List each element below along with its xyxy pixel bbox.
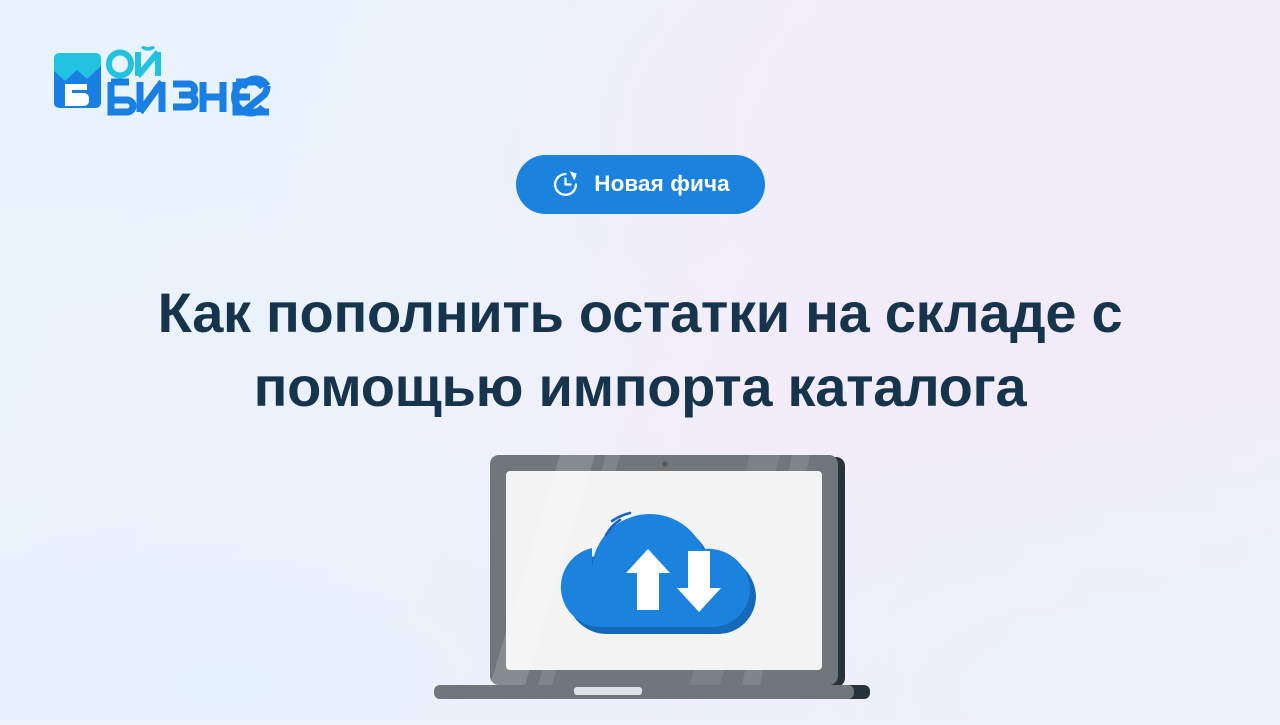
new-feature-badge[interactable]: Новая фича xyxy=(516,155,765,214)
laptop-camera-icon xyxy=(662,461,667,466)
clock-rotate-icon xyxy=(551,170,580,199)
page-title: Как пополнить остатки на складе с помощь… xyxy=(0,276,1280,424)
brand-logo-svg xyxy=(50,46,280,118)
brand-logo[interactable] xyxy=(50,46,280,118)
new-feature-badge-label: Новая фича xyxy=(594,173,730,196)
logo-text-top xyxy=(109,47,158,77)
laptop-base-icon xyxy=(434,685,870,699)
laptop-cloud-sync-illustration xyxy=(420,445,870,720)
hero-illustration xyxy=(420,445,870,720)
